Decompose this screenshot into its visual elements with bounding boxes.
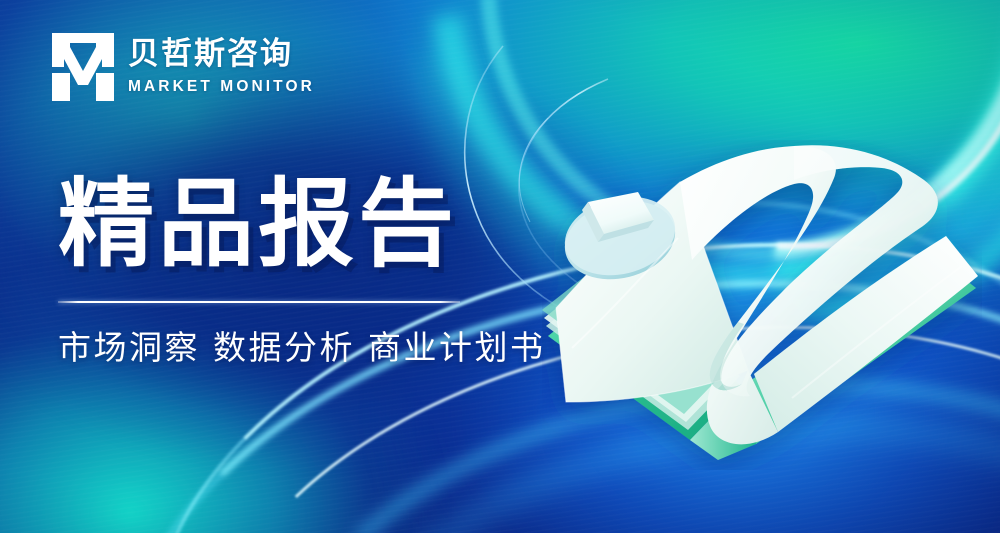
title-divider [58,301,460,303]
brand-logo-text: 贝哲斯咨询 MARKET MONITOR [128,36,315,99]
company-name-en: MARKET MONITOR [128,75,315,98]
page-title: 精品报告 [58,175,545,275]
brand-logo[interactable]: 贝哲斯咨询 MARKET MONITOR [52,33,315,101]
page-subtitle: 市场洞察 数据分析 商业计划书 [58,327,545,368]
open-book-illustration [542,140,982,470]
market-monitor-m-logo-icon [52,33,114,101]
report-banner: 贝哲斯咨询 MARKET MONITOR 精品报告 市场洞察 数据分析 商业计划… [0,0,1000,533]
company-name-cn: 贝哲斯咨询 [128,36,315,73]
headline-block: 精品报告 市场洞察 数据分析 商业计划书 [58,175,545,368]
